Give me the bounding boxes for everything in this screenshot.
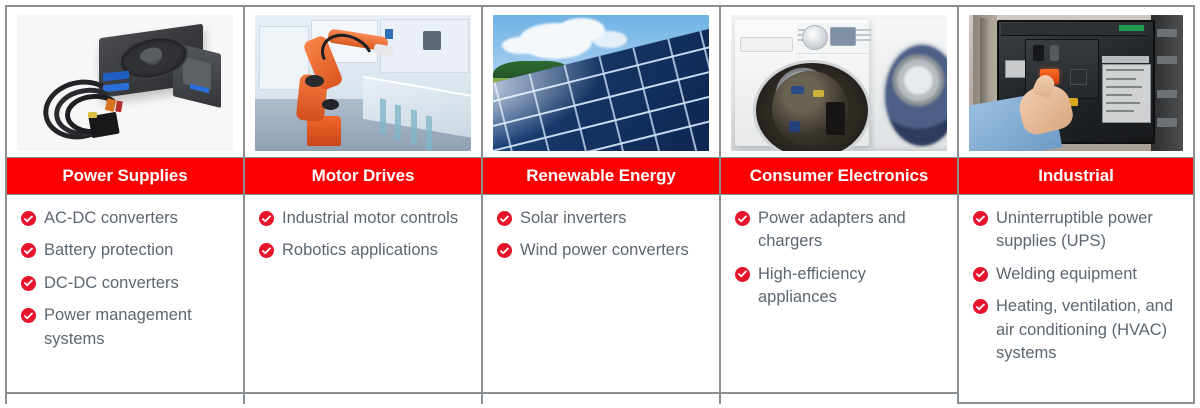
- list-item-label: AC-DC converters: [44, 207, 178, 230]
- segment-list-power-supplies: AC-DC converters Battery protection DC-D…: [7, 195, 243, 404]
- power-supply-unit-photo: [17, 15, 233, 151]
- segments-table: Power Supplies AC-DC converters Battery …: [5, 5, 1195, 404]
- list-item-label: High-efficiency appliances: [758, 263, 945, 310]
- media-cell-motor-drives: [245, 7, 481, 157]
- segment-header-power-supplies: Power Supplies: [7, 157, 243, 195]
- list-item: Welding equipment: [973, 263, 1181, 286]
- list-item-label: Power adapters and chargers: [758, 207, 945, 254]
- list-item-label: Welding equipment: [996, 263, 1137, 286]
- segment-list-consumer-electronics: Power adapters and chargers High-efficie…: [721, 195, 957, 404]
- check-circle-icon: [21, 308, 36, 323]
- list-item: DC-DC converters: [21, 272, 231, 295]
- check-circle-icon: [497, 243, 512, 258]
- washing-machine-photo: [731, 15, 947, 151]
- segment-column-renewable-energy: Renewable Energy Solar inverters Wind po…: [483, 7, 721, 404]
- segment-header-motor-drives: Motor Drives: [245, 157, 481, 195]
- application-segments-table-page: Power Supplies AC-DC converters Battery …: [0, 0, 1200, 408]
- industrial-robot-arm-photo: [255, 15, 471, 151]
- check-circle-icon: [973, 299, 988, 314]
- segment-column-motor-drives: Motor Drives Industrial motor controls R…: [245, 7, 483, 404]
- segment-list-renewable-energy: Solar inverters Wind power converters: [483, 195, 719, 404]
- list-item: Wind power converters: [497, 239, 707, 262]
- segment-column-power-supplies: Power Supplies AC-DC converters Battery …: [7, 7, 245, 404]
- check-circle-icon: [497, 211, 512, 226]
- list-item: Uninterruptible power supplies (UPS): [973, 207, 1181, 254]
- list-item: Solar inverters: [497, 207, 707, 230]
- check-circle-icon: [21, 243, 36, 258]
- list-item: Robotics applications: [259, 239, 469, 262]
- list-item-label: Solar inverters: [520, 207, 626, 230]
- media-cell-industrial: [959, 7, 1193, 157]
- list-item-label: Robotics applications: [282, 239, 438, 262]
- segment-list-industrial: Uninterruptible power supplies (UPS) Wel…: [959, 195, 1193, 404]
- check-circle-icon: [21, 211, 36, 226]
- list-item: AC-DC converters: [21, 207, 231, 230]
- check-circle-icon: [973, 211, 988, 226]
- media-cell-renewable-energy: [483, 7, 719, 157]
- media-cell-power-supplies: [7, 7, 243, 157]
- list-item: Industrial motor controls: [259, 207, 469, 230]
- segment-header-renewable-energy: Renewable Energy: [483, 157, 719, 195]
- segment-column-consumer-electronics: Consumer Electronics Power adapters and …: [721, 7, 959, 404]
- list-item-label: Wind power converters: [520, 239, 689, 262]
- list-item: Power adapters and chargers: [735, 207, 945, 254]
- check-circle-icon: [735, 211, 750, 226]
- segment-header-consumer-electronics: Consumer Electronics: [721, 157, 957, 195]
- list-item-label: Battery protection: [44, 239, 173, 262]
- circuit-breaker-panel-photo: [969, 15, 1183, 151]
- list-item-label: DC-DC converters: [44, 272, 179, 295]
- solar-panels-photo: [493, 15, 709, 151]
- segment-column-industrial: Industrial Uninterruptible power supplie…: [959, 7, 1195, 404]
- list-item: High-efficiency appliances: [735, 263, 945, 310]
- media-cell-consumer-electronics: [721, 7, 957, 157]
- check-circle-icon: [21, 276, 36, 291]
- list-item-label: Heating, ventilation, and air conditioni…: [996, 295, 1181, 365]
- segment-header-industrial: Industrial: [959, 157, 1193, 195]
- check-circle-icon: [259, 243, 274, 258]
- list-item: Battery protection: [21, 239, 231, 262]
- list-item-label: Power management systems: [44, 304, 231, 351]
- check-circle-icon: [259, 211, 274, 226]
- list-item: Heating, ventilation, and air conditioni…: [973, 295, 1181, 365]
- list-item-label: Uninterruptible power supplies (UPS): [996, 207, 1181, 254]
- segment-list-motor-drives: Industrial motor controls Robotics appli…: [245, 195, 481, 404]
- check-circle-icon: [973, 267, 988, 282]
- list-item: Power management systems: [21, 304, 231, 351]
- check-circle-icon: [735, 267, 750, 282]
- list-item-label: Industrial motor controls: [282, 207, 458, 230]
